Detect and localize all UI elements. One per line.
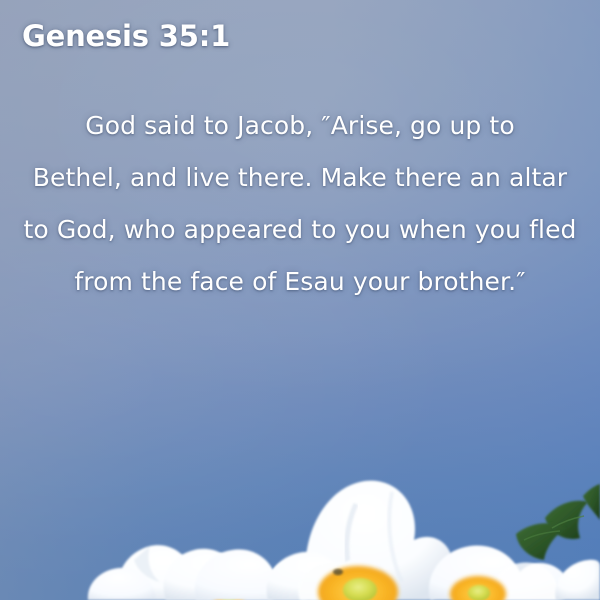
verse-line: Bethel, and live there. Make there an al… <box>0 152 600 204</box>
verse-text-block: God said to Jacob, ″Arise, go up to Beth… <box>0 100 600 308</box>
verse-reference-title: Genesis 35:1 <box>22 19 230 53</box>
scripture-image-card: Genesis 35:1 God said to Jacob, ″Arise, … <box>0 0 600 600</box>
verse-line: God said to Jacob, ″Arise, go up to <box>0 100 600 152</box>
verse-line: to God, who appeared to you when you fle… <box>0 204 600 256</box>
verse-line: from the face of Esau your brother.″ <box>0 256 600 308</box>
